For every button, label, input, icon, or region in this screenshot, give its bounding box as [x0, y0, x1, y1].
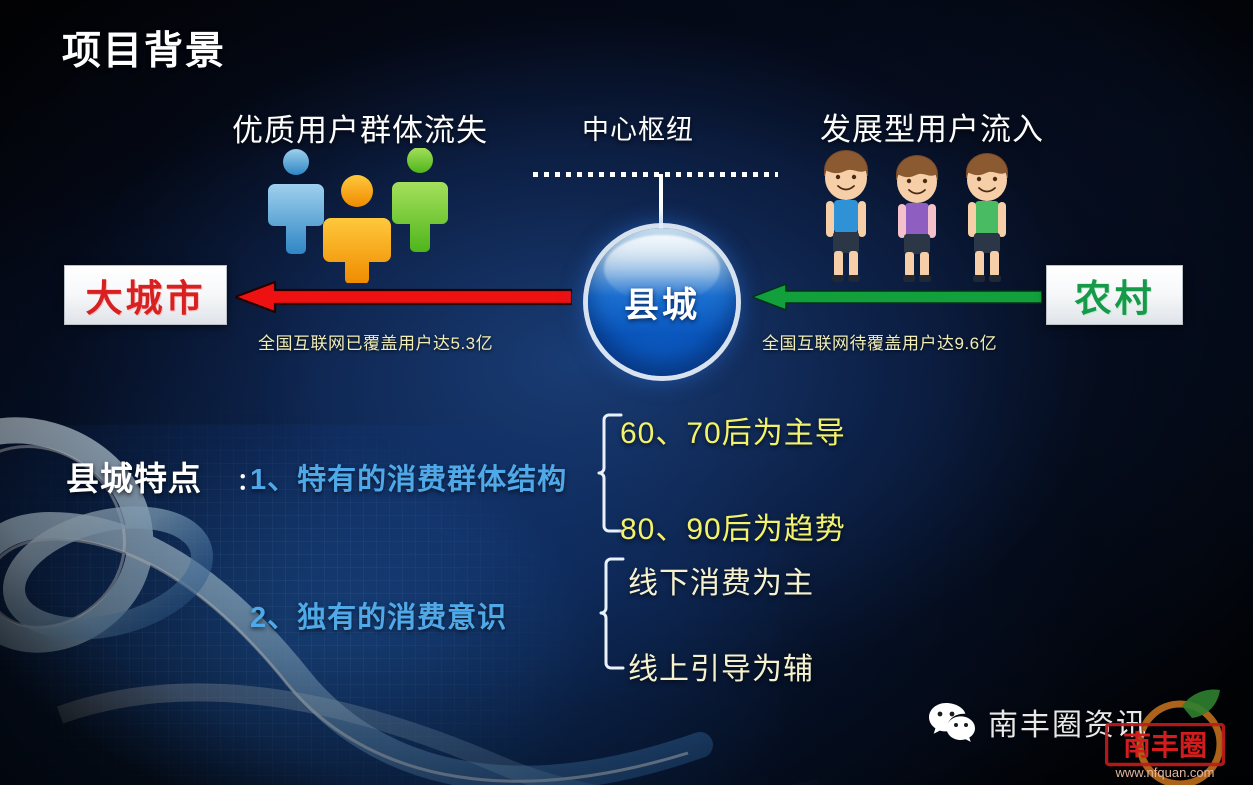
arrow-caption-uncovered-users: 全国互联网待覆盖用户达9.6亿 [762, 329, 997, 354]
presentation-slide: 项目背景 优质用户群体流失 中心枢纽 发展型用户流入 [0, 0, 1253, 785]
child-icon-green-top [966, 153, 1008, 282]
arrow-inflow-from-village [752, 283, 1042, 311]
person-icon-blue [268, 149, 324, 254]
cartoon-people-group [812, 148, 1027, 288]
person-icon-green [392, 148, 448, 252]
feature-2-leaf-2: 线上引导为辅 [628, 644, 814, 688]
hub-circle-county[interactable]: 县城 [588, 228, 736, 376]
feature-item-2-label: 2、独有的消费意识 [250, 594, 507, 636]
hub-circle-label: 县城 [624, 277, 700, 328]
feature-item-1-label: 1、特有的消费群体结构 [250, 456, 567, 498]
endpoint-box-big-city[interactable]: 大城市 [64, 265, 227, 325]
brace-bracket-2 [599, 556, 625, 676]
hub-connector-stem [659, 174, 663, 229]
abstract-people-group [265, 148, 455, 283]
feature-1-leaf-1: 60、70后为主导 [620, 408, 846, 452]
person-icon-orange [323, 175, 391, 283]
features-heading: 县城特点 [66, 452, 202, 500]
child-icon-blue-top [824, 150, 868, 282]
wechat-icon [928, 701, 976, 743]
child-icon-purple-top [896, 155, 938, 282]
arrow-outflow-to-city [235, 281, 572, 313]
arrow-caption-covered-users: 全国互联网已覆盖用户达5.3亿 [258, 329, 493, 354]
watermark-stamp-text: 南丰圈 [1123, 730, 1207, 761]
caption-user-outflow: 优质用户群体流失 [232, 105, 488, 150]
caption-central-hub: 中心枢纽 [582, 108, 694, 147]
caption-user-inflow: 发展型用户流入 [820, 104, 1044, 149]
feature-1-leaf-2: 80、90后为趋势 [620, 504, 846, 548]
hub-dotted-line [533, 172, 778, 177]
watermark-stamp-url: www.nfquan.com [1115, 765, 1215, 780]
feature-2-leaf-1: 线下消费为主 [628, 558, 814, 602]
endpoint-box-village[interactable]: 农村 [1046, 265, 1183, 325]
page-title: 项目背景 [62, 20, 226, 76]
watermark-stamp-logo: 南丰圈 www.nfquan.com [1105, 723, 1225, 781]
